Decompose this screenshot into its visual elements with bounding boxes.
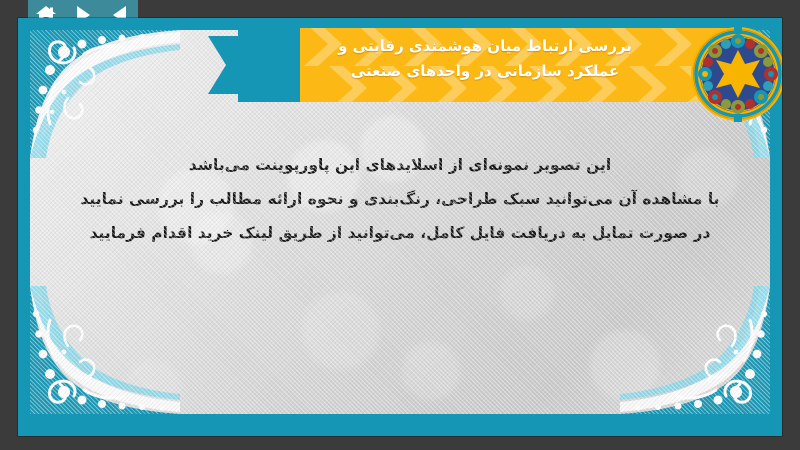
title-line: عملکرد سازمانی در واحدهای صنعتی bbox=[268, 59, 702, 84]
body-line: این تصویر نمونه‌ای از اسلایدهای این پاور… bbox=[50, 148, 750, 182]
persian-medallion-ornament bbox=[690, 26, 782, 122]
corner-filigree-ornament bbox=[620, 286, 770, 414]
bokeh-circle bbox=[302, 292, 380, 370]
body-line: با مشاهده آن می‌توانید سبک طراحی، رنگ‌بن… bbox=[50, 182, 750, 216]
slide-body-text: این تصویر نمونه‌ای از اسلایدهای این پاور… bbox=[50, 148, 750, 250]
corner-filigree-ornament bbox=[30, 286, 180, 414]
bokeh-circle bbox=[500, 266, 554, 320]
slide-title: بررسی ارتباط میان هوشمندی رقابتی و عملکر… bbox=[268, 34, 702, 84]
body-line: در صورت تمایل به دریافت فایل کامل، می‌تو… bbox=[50, 216, 750, 250]
corner-filigree-ornament bbox=[30, 30, 180, 158]
slide-title-banner: بررسی ارتباط میان هوشمندی رقابتی و عملکر… bbox=[208, 28, 728, 102]
presentation-viewer: این تصویر نمونه‌ای از اسلایدهای این پاور… bbox=[0, 0, 800, 450]
bottom-filigree-ornament bbox=[18, 420, 782, 436]
bokeh-circle bbox=[402, 342, 460, 400]
title-line: بررسی ارتباط میان هوشمندی رقابتی و bbox=[268, 34, 702, 59]
slide-frame: این تصویر نمونه‌ای از اسلایدهای این پاور… bbox=[18, 18, 782, 436]
